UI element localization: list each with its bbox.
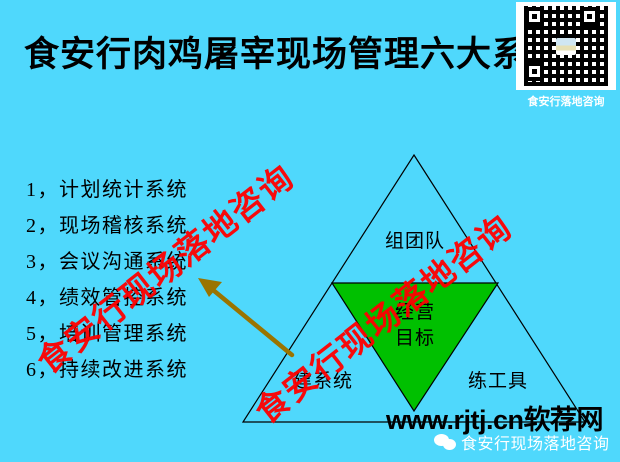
triangle-label-bottom-right: 练工具 [468,366,528,393]
slide-canvas: 食安行肉鸡屠宰现场管理六大系统 食安行落地咨询 1，计划统计系统 2，现场稽核系… [0,0,620,462]
wechat-icon [434,434,456,451]
flow-arrow [198,278,292,355]
wechat-watermark: 食安行现场落地咨询 [434,430,610,454]
wechat-watermark-label: 食安行现场落地咨询 [461,430,610,454]
